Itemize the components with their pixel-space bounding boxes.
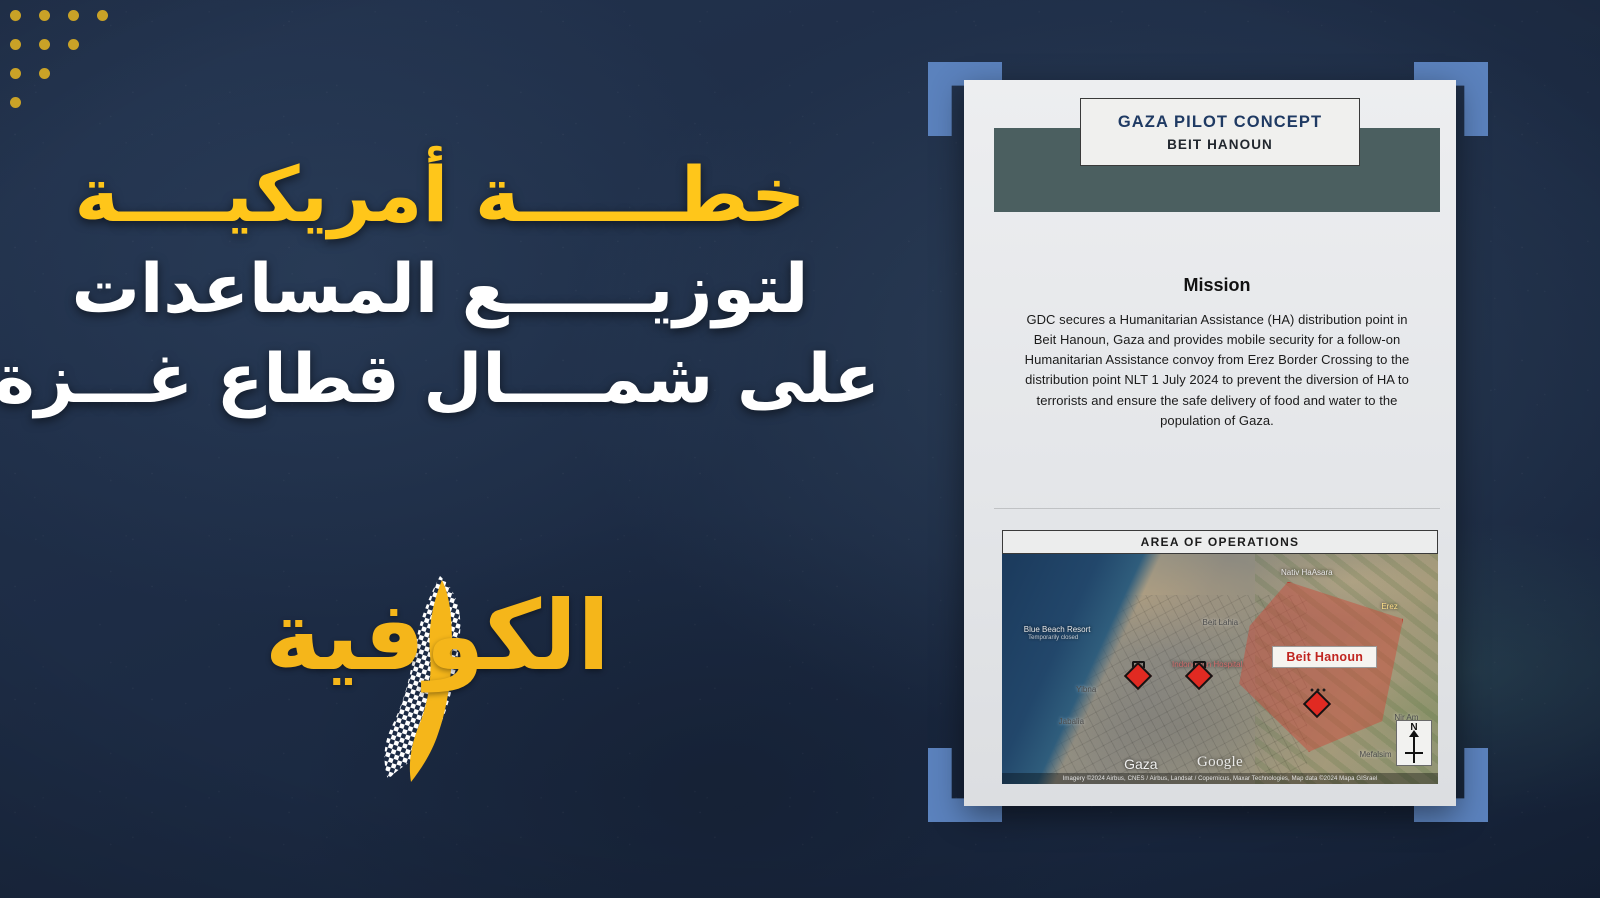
map-place-label: Mefalsim [1360,750,1392,759]
grid-dot [10,10,21,21]
grid-dot [39,39,50,50]
channel-logo: الكوفية [360,570,610,810]
marker-west [1128,662,1152,686]
red-diamond-icon [1185,662,1213,690]
grid-dot [39,68,50,79]
mission-section: Mission GDC secures a Humanitarian Assis… [994,275,1440,431]
map-place-label: Gaza [1124,756,1157,772]
map-place-note: Temporarily closed [1028,635,1078,641]
map-place-label: Yibna [1076,685,1096,694]
red-diamond-icon [1124,662,1152,690]
slide-body: GAZA PILOT CONCEPT BEIT HANOUN Mission G… [964,80,1456,806]
grid-dot [68,39,79,50]
map-place-label: Nativ HaAsara [1281,568,1333,577]
slide-title-main: GAZA PILOT CONCEPT [1118,113,1322,132]
mission-heading: Mission [994,275,1440,296]
map-place-label: Erez [1381,602,1397,611]
beit-hanoun-map-label: Beit Hanoun [1272,646,1377,668]
mission-body-text: GDC secures a Humanitarian Assistance (H… [994,310,1440,431]
satellite-map: Blue Beach Resort Temporarily closed Bei… [1002,554,1438,784]
grid-dot [39,10,50,21]
map-place-label: Beit Lahia [1203,618,1239,627]
headline-block: خطــــــة أمريكيــــة لتوزيــــــع المسا… [0,150,880,420]
grid-dot [97,10,108,21]
map-place-label: Jabalia [1059,717,1084,726]
section-divider [994,508,1440,509]
grid-dot [10,39,21,50]
area-of-operations-header: AREA OF OPERATIONS [1002,530,1438,554]
logo-wordmark: الكوفية [265,588,610,684]
headline-line-3: على شمــــال قطاع غـــزة [0,340,880,420]
north-arrow-compass: N [1396,720,1432,766]
headline-line-2: لتوزيــــــع المساعدات [0,250,880,330]
dot-grid-row [10,39,126,68]
google-watermark: Google [1197,754,1243,771]
marker-central [1189,662,1213,686]
area-of-operations-label: AREA OF OPERATIONS [1141,535,1300,549]
map-sea-layer [1002,554,1202,784]
red-diamond-icon [1303,690,1331,718]
grid-dot [68,10,79,21]
slide-title-box: GAZA PILOT CONCEPT BEIT HANOUN [1080,98,1360,166]
slide-title-sub: BEIT HANOUN [1167,137,1273,152]
presentation-slide-graphic: GAZA PILOT CONCEPT BEIT HANOUN Mission G… [928,62,1488,822]
grid-dot [10,68,21,79]
grid-dot [10,97,21,108]
dot-grid-row [10,10,126,39]
marker-beit-hanoun [1307,690,1331,714]
dot-grid-row [10,97,126,126]
map-attribution-text: Imagery ©2024 Airbus, CNES / Airbus, Lan… [1063,776,1378,782]
dot-grid-row [10,68,126,97]
compass-arrow-icon [1413,735,1415,763]
map-place-label: Blue Beach Resort [1024,625,1091,634]
headline-line-1: خطــــــة أمريكيــــة [0,150,880,240]
map-attribution-bar: Imagery ©2024 Airbus, CNES / Airbus, Lan… [1002,773,1438,784]
decorative-dot-grid [10,10,126,126]
